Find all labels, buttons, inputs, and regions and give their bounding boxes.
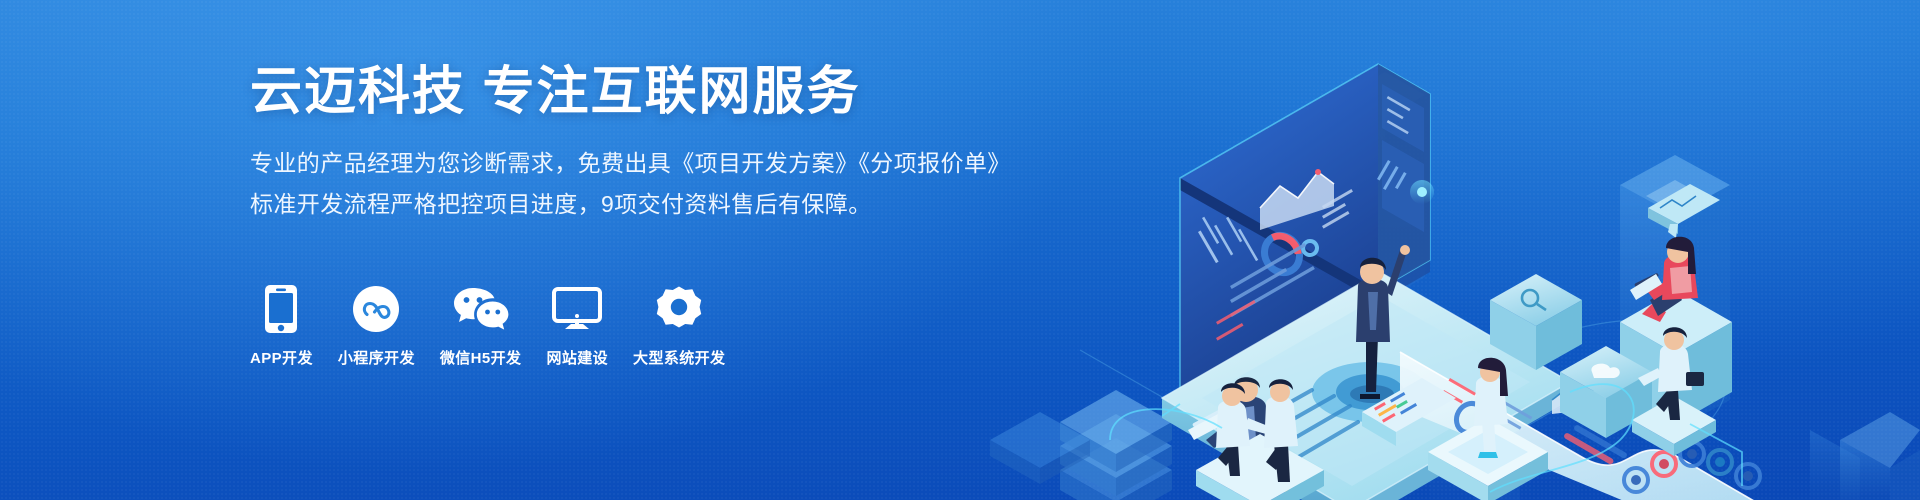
service-label: 小程序开发 xyxy=(338,347,415,368)
service-item-app[interactable]: APP开发 xyxy=(250,283,313,368)
gear-icon xyxy=(656,283,702,335)
wechat-icon xyxy=(453,283,509,335)
banner-copy: 云迈科技 专注互联网服务 专业的产品经理为您诊断需求，免费出具《项目开发方案》《… xyxy=(250,62,1010,223)
isometric-tech-illustration xyxy=(930,0,1920,500)
subtitle-line-2: 标准开发流程严格把控项目进度，9项交付资料售后有保障。 xyxy=(250,186,1010,223)
hero-banner: 云迈科技 专注互联网服务 专业的产品经理为您诊断需求，免费出具《项目开发方案》《… xyxy=(0,0,1920,500)
service-item-mini-program[interactable]: 小程序开发 xyxy=(338,283,415,368)
subtitle-line-1: 专业的产品经理为您诊断需求，免费出具《项目开发方案》《分项报价单》 xyxy=(250,145,1010,182)
service-item-wechat-h5[interactable]: 微信H5开发 xyxy=(440,283,522,368)
page-title: 云迈科技 专注互联网服务 xyxy=(250,62,1010,123)
service-label: APP开发 xyxy=(250,347,313,368)
service-item-website[interactable]: 网站建设 xyxy=(546,283,608,368)
service-item-large-system[interactable]: 大型系统开发 xyxy=(633,283,725,368)
service-label: 微信H5开发 xyxy=(440,347,522,368)
service-list: APP开发 小程序开发 微信 xyxy=(250,283,725,368)
service-label: 网站建设 xyxy=(546,347,608,368)
mini-program-icon xyxy=(352,283,400,335)
service-label: 大型系统开发 xyxy=(633,347,725,368)
monitor-icon xyxy=(552,283,602,335)
mobile-phone-icon xyxy=(264,283,298,335)
